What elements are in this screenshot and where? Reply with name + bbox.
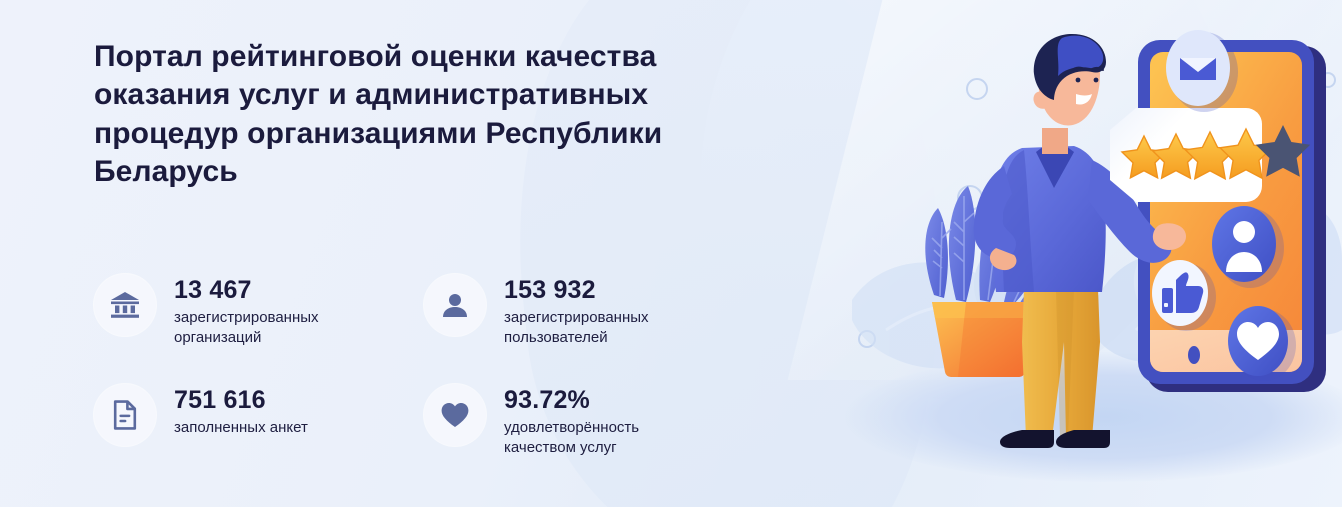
stat-text: 751 616 заполненных анкет — [174, 384, 308, 438]
hero-text-block: Портал рейтинговой оценки качества оказа… — [94, 38, 814, 192]
stat-value: 13 467 — [174, 276, 319, 305]
document-icon — [94, 384, 156, 446]
stat-item-organizations: 13 467 зарегистрированных организаций — [94, 274, 424, 384]
stat-label: заполненных анкет — [174, 418, 308, 438]
stat-value: 93.72% — [504, 386, 639, 415]
stat-label: зарегистрированных организаций — [174, 308, 319, 349]
stat-item-forms: 751 616 заполненных анкет — [94, 384, 424, 494]
stat-label: зарегистрированных пользователей — [504, 308, 649, 349]
hero-banner: Портал рейтинговой оценки качества оказа… — [0, 0, 1342, 507]
stat-text: 153 932 зарегистрированных пользователей — [504, 274, 649, 348]
page-title: Портал рейтинговой оценки качества оказа… — [94, 38, 794, 192]
stat-value: 751 616 — [174, 386, 308, 415]
stat-item-users: 153 932 зарегистрированных пользователей — [424, 274, 754, 384]
bank-icon — [94, 274, 156, 336]
stat-item-satisfaction: 93.72% удовлетворённость качеством услуг — [424, 384, 754, 494]
stat-text: 93.72% удовлетворённость качеством услуг — [504, 384, 639, 458]
stat-label: удовлетворённость качеством услуг — [504, 418, 639, 459]
heart-icon — [424, 384, 486, 446]
stat-value: 153 932 — [504, 276, 649, 305]
stat-text: 13 467 зарегистрированных организаций — [174, 274, 319, 348]
man-rating-smartphone-illustration — [846, 0, 1342, 507]
user-icon — [424, 274, 486, 336]
stats-grid: 13 467 зарегистрированных организаций 15… — [94, 274, 834, 494]
